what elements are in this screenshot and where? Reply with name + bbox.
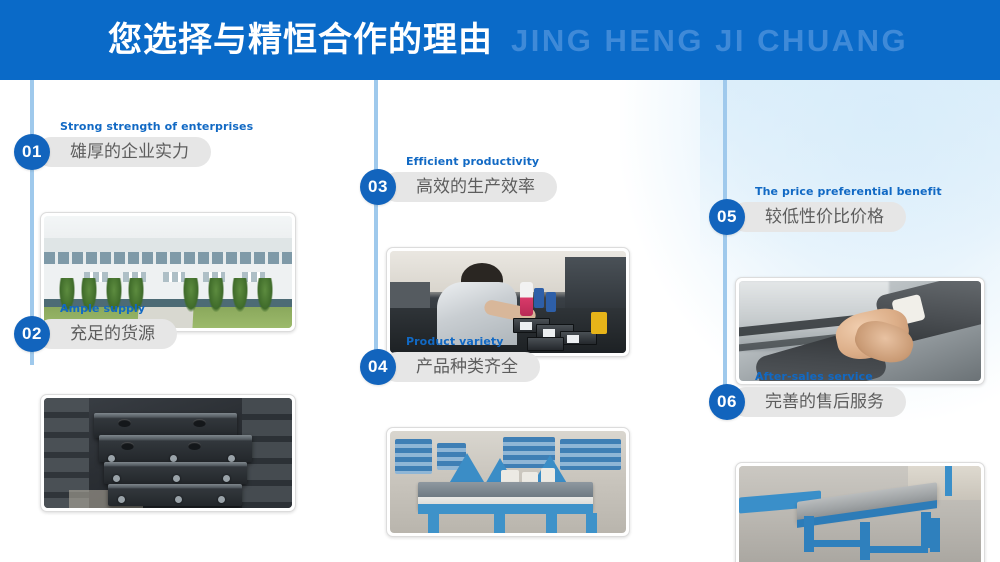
feature-label-pill: 产品种类齐全	[382, 352, 540, 382]
blue-cast-iron-fixtures-photo	[390, 431, 626, 533]
feature-item-02[interactable]: Ample supply 充足的货源 02	[14, 302, 314, 348]
feature-number-badge: 01	[14, 134, 50, 170]
feature-photo-frame	[40, 394, 296, 512]
feature-eyebrow: The price preferential benefit	[755, 185, 942, 198]
feature-number-badge: 04	[360, 349, 396, 385]
feature-number-badge: 05	[709, 199, 745, 235]
column-right: The price preferential benefit 较低性价比价格 0…	[700, 80, 1000, 562]
feature-label-pill: 完善的售后服务	[731, 387, 906, 417]
blue-steel-work-table-photo	[739, 466, 981, 562]
feature-number-badge: 06	[709, 384, 745, 420]
feature-label: 完善的售后服务	[765, 394, 884, 411]
page-header: 您选择与精恒合作的理由 JING HENG JI CHUANG	[0, 0, 1000, 80]
feature-label-pill: 较低性价比价格	[731, 202, 906, 232]
feature-eyebrow: Product variety	[406, 335, 504, 348]
page-title: 您选择与精恒合作的理由	[108, 23, 493, 57]
feature-eyebrow: Ample supply	[60, 302, 145, 315]
feature-number-badge: 03	[360, 169, 396, 205]
feature-header: Efficient productivity 高效的生产效率 03	[360, 155, 660, 201]
feature-number-badge: 02	[14, 316, 50, 352]
feature-label-pill: 雄厚的企业实力	[36, 137, 211, 167]
feature-item-04[interactable]: Product variety 产品种类齐全 04	[360, 335, 660, 381]
header-title-group: 您选择与精恒合作的理由 JING HENG JI CHUANG	[108, 0, 908, 80]
feature-label: 产品种类齐全	[416, 359, 518, 376]
feature-photo-frame	[386, 427, 630, 537]
feature-item-05[interactable]: The price preferential benefit 较低性价比价格 0…	[709, 185, 999, 231]
feature-item-03[interactable]: Efficient productivity 高效的生产效率 03	[360, 155, 660, 201]
timeline-rail-right	[723, 80, 727, 410]
page-title-pinyin: JING HENG JI CHUANG	[511, 25, 908, 56]
feature-item-01[interactable]: Strong strength of enterprises 雄厚的企业实力 0…	[14, 120, 314, 166]
feature-photo-frame	[735, 462, 985, 562]
feature-header: Ample supply 充足的货源 02	[14, 302, 314, 348]
feature-eyebrow: Efficient productivity	[406, 155, 539, 168]
column-middle: Efficient productivity 高效的生产效率 03	[350, 80, 700, 562]
feature-label-pill: 高效的生产效率	[382, 172, 557, 202]
feature-label: 充足的货源	[70, 326, 155, 343]
feature-label: 雄厚的企业实力	[70, 144, 189, 161]
feature-label-pill: 充足的货源	[36, 319, 177, 349]
feature-eyebrow: After-sales service	[755, 370, 873, 383]
business-handshake-photo	[739, 281, 981, 381]
feature-label: 高效的生产效率	[416, 179, 535, 196]
feature-photo-frame	[735, 277, 985, 385]
feature-header: Strong strength of enterprises 雄厚的企业实力 0…	[14, 120, 314, 166]
stacked-machine-parts-photo	[44, 398, 292, 508]
feature-eyebrow: Strong strength of enterprises	[60, 120, 253, 133]
feature-header: After-sales service 完善的售后服务 06	[709, 370, 999, 416]
feature-label: 较低性价比价格	[765, 209, 884, 226]
feature-header: Product variety 产品种类齐全 04	[360, 335, 660, 381]
feature-header: The price preferential benefit 较低性价比价格 0…	[709, 185, 999, 231]
feature-item-06[interactable]: After-sales service 完善的售后服务 06	[709, 370, 999, 416]
promo-banner: 您选择与精恒合作的理由 JING HENG JI CHUANG Strong s…	[0, 0, 1000, 562]
timeline-rail-middle	[374, 80, 378, 365]
column-left: Strong strength of enterprises 雄厚的企业实力 0…	[0, 80, 350, 562]
